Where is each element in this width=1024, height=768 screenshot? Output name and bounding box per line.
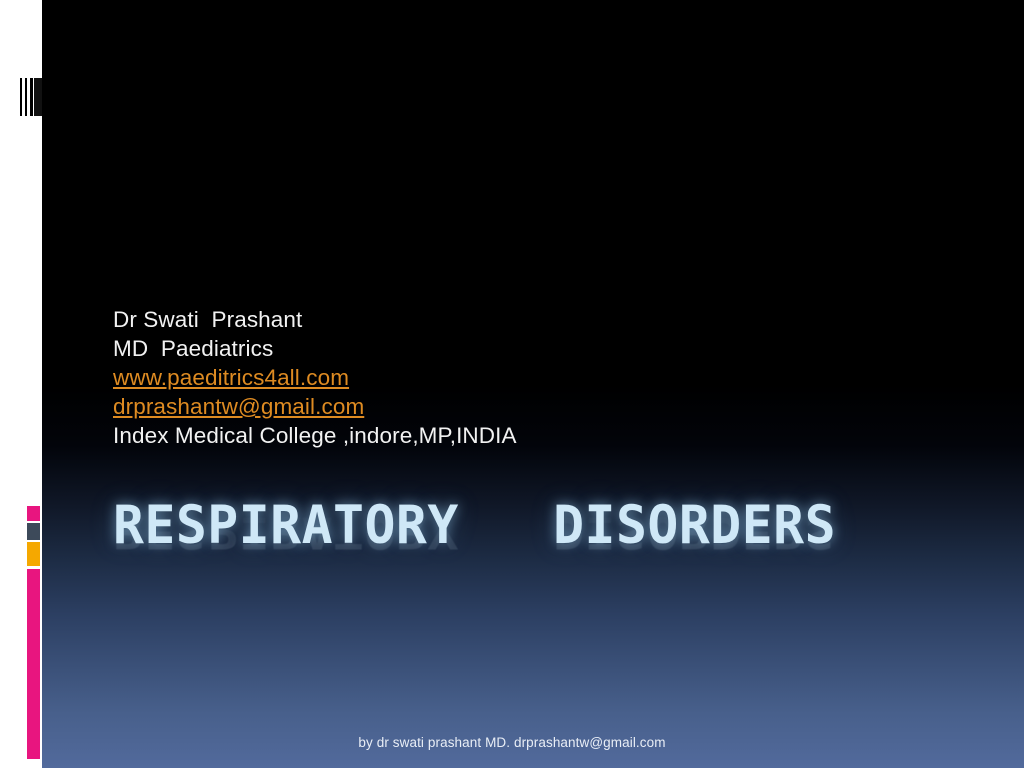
page-title: RESPIRATORY DISORDERS: [113, 497, 870, 555]
slide-title-area: RESPIRATORY DISORDERS RESPIRATORY DISORD…: [113, 497, 893, 607]
presenter-info-block: Dr Swati Prashant MD Paediatrics www.pae…: [113, 305, 813, 450]
accent-segment-slate: [27, 523, 40, 540]
presenter-qualification: MD Paediatrics: [113, 334, 813, 363]
accent-segment-pink-long: [27, 569, 40, 759]
presenter-website-link[interactable]: www.paeditrics4all.com: [113, 363, 813, 392]
segmented-accent-bar: [27, 506, 40, 759]
barcode-bar: [25, 78, 27, 116]
presenter-name: Dr Swati Prashant: [113, 305, 813, 334]
barcode-motif-icon: [20, 78, 42, 116]
presenter-email-link[interactable]: drprashantw@gmail.com: [113, 392, 813, 421]
barcode-bar: [34, 78, 42, 116]
presentation-slide: Dr Swati Prashant MD Paediatrics www.pae…: [0, 0, 1024, 768]
accent-segment-gold: [27, 542, 40, 566]
slide-footer: by dr swati prashant MD. drprashantw@gma…: [0, 735, 1024, 750]
barcode-bar: [20, 78, 22, 116]
barcode-bar: [30, 78, 33, 116]
accent-segment-pink-top: [27, 506, 40, 521]
presenter-affiliation: Index Medical College ,indore,MP,INDIA: [113, 421, 813, 450]
